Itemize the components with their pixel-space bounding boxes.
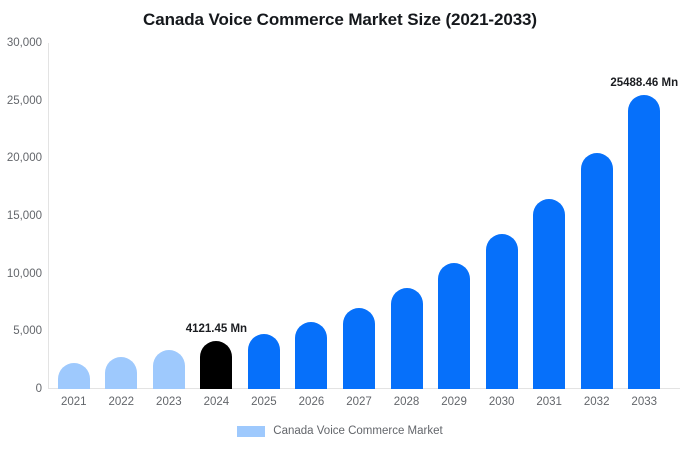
bar-rect-2029[interactable] — [438, 263, 470, 389]
bar-2033[interactable]: 25488.46 Mn — [628, 43, 660, 389]
bar-2032[interactable] — [581, 43, 613, 389]
y-axis-tick-label: 25,000 — [0, 95, 42, 107]
bar-2022[interactable] — [105, 43, 137, 389]
chart-legend: Canada Voice Commerce Market — [0, 425, 680, 437]
bar-2023[interactable] — [153, 43, 185, 389]
bar-rect-2031[interactable] — [533, 199, 565, 389]
bar-2030[interactable] — [486, 43, 518, 389]
legend-swatch-canada-voice-commerce-market — [237, 426, 265, 437]
bar-rect-2022[interactable] — [105, 357, 137, 389]
y-axis-tick-label: 20,000 — [0, 152, 42, 164]
bar-rect-2026[interactable] — [295, 322, 327, 389]
bar-2026[interactable] — [295, 43, 327, 389]
plot-area: 05,00010,00015,00020,00025,00030,000 412… — [48, 43, 680, 389]
y-axis-tick-label: 30,000 — [0, 37, 42, 49]
y-axis-tick-label: 15,000 — [0, 210, 42, 222]
bar-value-label-2033: 25488.46 Mn — [610, 77, 678, 89]
bar-2025[interactable] — [248, 43, 280, 389]
bar-rect-2023[interactable] — [153, 350, 185, 389]
bar-2024[interactable]: 4121.45 Mn — [200, 43, 232, 389]
bar-2031[interactable] — [533, 43, 565, 389]
y-axis-tick-label: 5,000 — [0, 325, 42, 337]
bar-value-label-2024: 4121.45 Mn — [186, 323, 247, 335]
bar-rect-2021[interactable] — [58, 363, 90, 389]
bar-2027[interactable] — [343, 43, 375, 389]
bar-rect-2030[interactable] — [486, 234, 518, 389]
y-axis-tick-label: 10,000 — [0, 268, 42, 280]
bar-2029[interactable] — [438, 43, 470, 389]
chart-container: Canada Voice Commerce Market Size (2021-… — [0, 0, 680, 450]
chart-title: Canada Voice Commerce Market Size (2021-… — [0, 10, 680, 30]
bar-rect-2033[interactable] — [628, 95, 660, 389]
bar-2028[interactable] — [391, 43, 423, 389]
bar-rect-2032[interactable] — [581, 153, 613, 389]
bar-rect-2025[interactable] — [248, 334, 280, 389]
x-axis-tick-label-2033: 2033 — [614, 396, 674, 408]
bar-rect-2024[interactable] — [200, 341, 232, 389]
y-axis-tick-label: 0 — [0, 383, 42, 395]
y-axis-line — [48, 43, 49, 389]
bar-2021[interactable] — [58, 43, 90, 389]
bar-rect-2028[interactable] — [391, 288, 423, 389]
bar-rect-2027[interactable] — [343, 308, 375, 389]
legend-label-canada-voice-commerce-market: Canada Voice Commerce Market — [273, 425, 442, 437]
